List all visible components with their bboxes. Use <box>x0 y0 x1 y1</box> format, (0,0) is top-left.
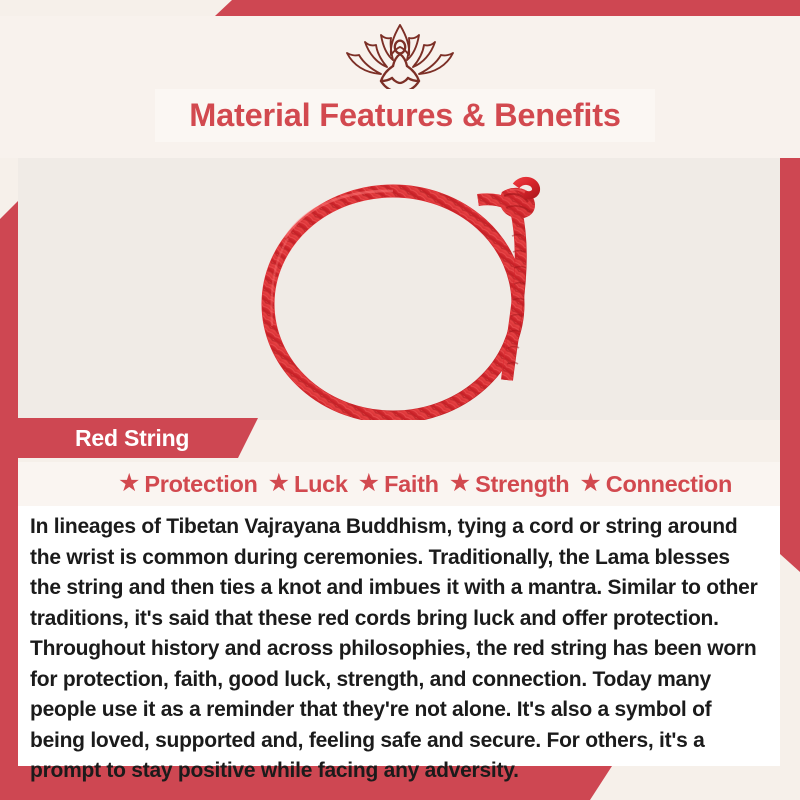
star-icon: ★ <box>118 471 140 496</box>
star-icon: ★ <box>268 471 290 496</box>
product-hero <box>18 158 780 420</box>
benefit-item: ★ Luck <box>268 471 348 498</box>
benefit-label: Faith <box>384 471 439 498</box>
benefit-item: ★ Strength <box>449 471 570 498</box>
material-name: Red String <box>75 425 189 452</box>
lotus-meditation-icon <box>325 21 475 99</box>
benefit-label: Protection <box>144 471 257 498</box>
benefit-label: Luck <box>294 471 348 498</box>
infographic-canvas: BUDDHA STONES Material Features & Benefi… <box>0 0 800 800</box>
decorative-top-band <box>215 0 800 16</box>
benefits-row: ★ Protection ★ Luck ★ Faith ★ Strength ★… <box>18 462 780 506</box>
page-title: Material Features & Benefits <box>189 97 620 134</box>
description-text: In lineages of Tibetan Vajrayana Buddhis… <box>30 512 762 787</box>
benefit-item: ★ Faith <box>358 471 439 498</box>
decorative-left-strip <box>0 201 18 800</box>
red-braided-string-bracelet <box>230 166 580 420</box>
benefit-label: Strength <box>475 471 569 498</box>
description-card: In lineages of Tibetan Vajrayana Buddhis… <box>18 506 780 766</box>
benefit-item: ★ Protection <box>118 471 258 498</box>
benefit-item: ★ Connection <box>579 471 732 498</box>
benefit-label: Connection <box>606 471 732 498</box>
title-band: Material Features & Benefits <box>155 89 655 142</box>
star-icon: ★ <box>449 471 471 496</box>
bracelet-knot <box>500 181 536 218</box>
star-icon: ★ <box>579 471 601 496</box>
star-icon: ★ <box>358 471 380 496</box>
material-ribbon: Red String <box>0 418 258 458</box>
